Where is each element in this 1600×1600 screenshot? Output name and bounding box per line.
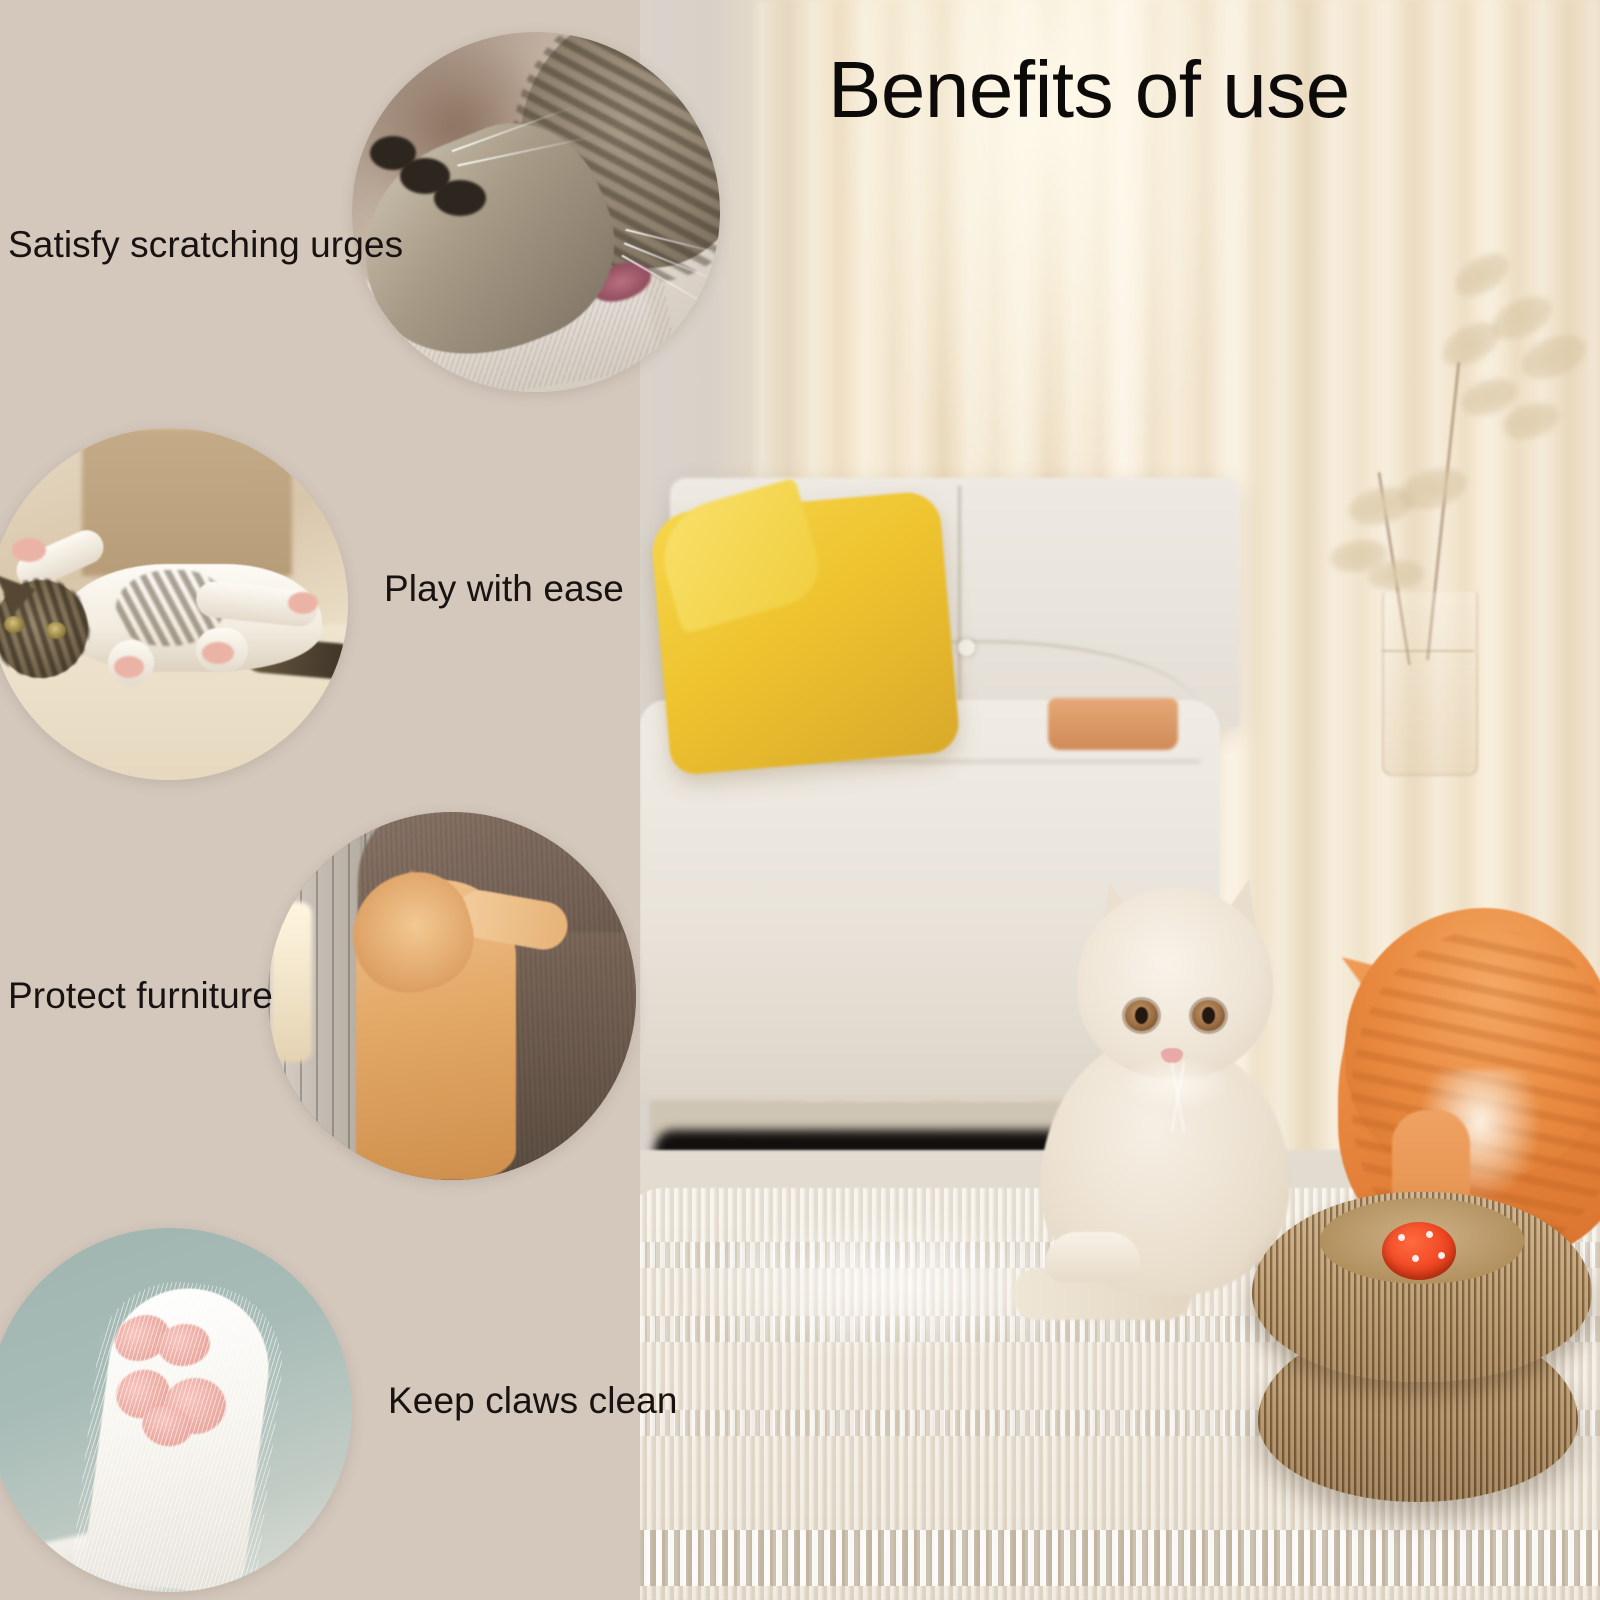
benefit-image-play-with-ease [0,428,348,780]
glass-vase [1382,592,1478,776]
benefit-label-satisfy-scratching-urges: Satisfy scratching urges [8,224,403,266]
lifestyle-photo-panel [640,0,1600,1600]
benefit-label-keep-claws-clean: Keep claws clean [388,1380,678,1422]
cat-eye-right [1192,1000,1225,1031]
benefit-label-protect-furniture: Protect furniture [8,975,273,1017]
marketing-infographic: Benefits of use Satisfy scratching urges [0,0,1600,1600]
benefit-image-satisfy-scratching-urges [352,32,720,392]
benefit-image-keep-claws-clean [0,1228,352,1592]
vase-rim-line [1382,650,1474,652]
page-title: Benefits of use [828,44,1350,136]
terracotta-cushion [1048,698,1178,750]
benefit-label-play-with-ease: Play with ease [384,568,624,610]
cat-eye-left [1125,1000,1158,1031]
ball-toy [1382,1222,1456,1280]
benefit-image-protect-furniture [268,812,636,1180]
sofa-button-tuft [958,639,975,656]
